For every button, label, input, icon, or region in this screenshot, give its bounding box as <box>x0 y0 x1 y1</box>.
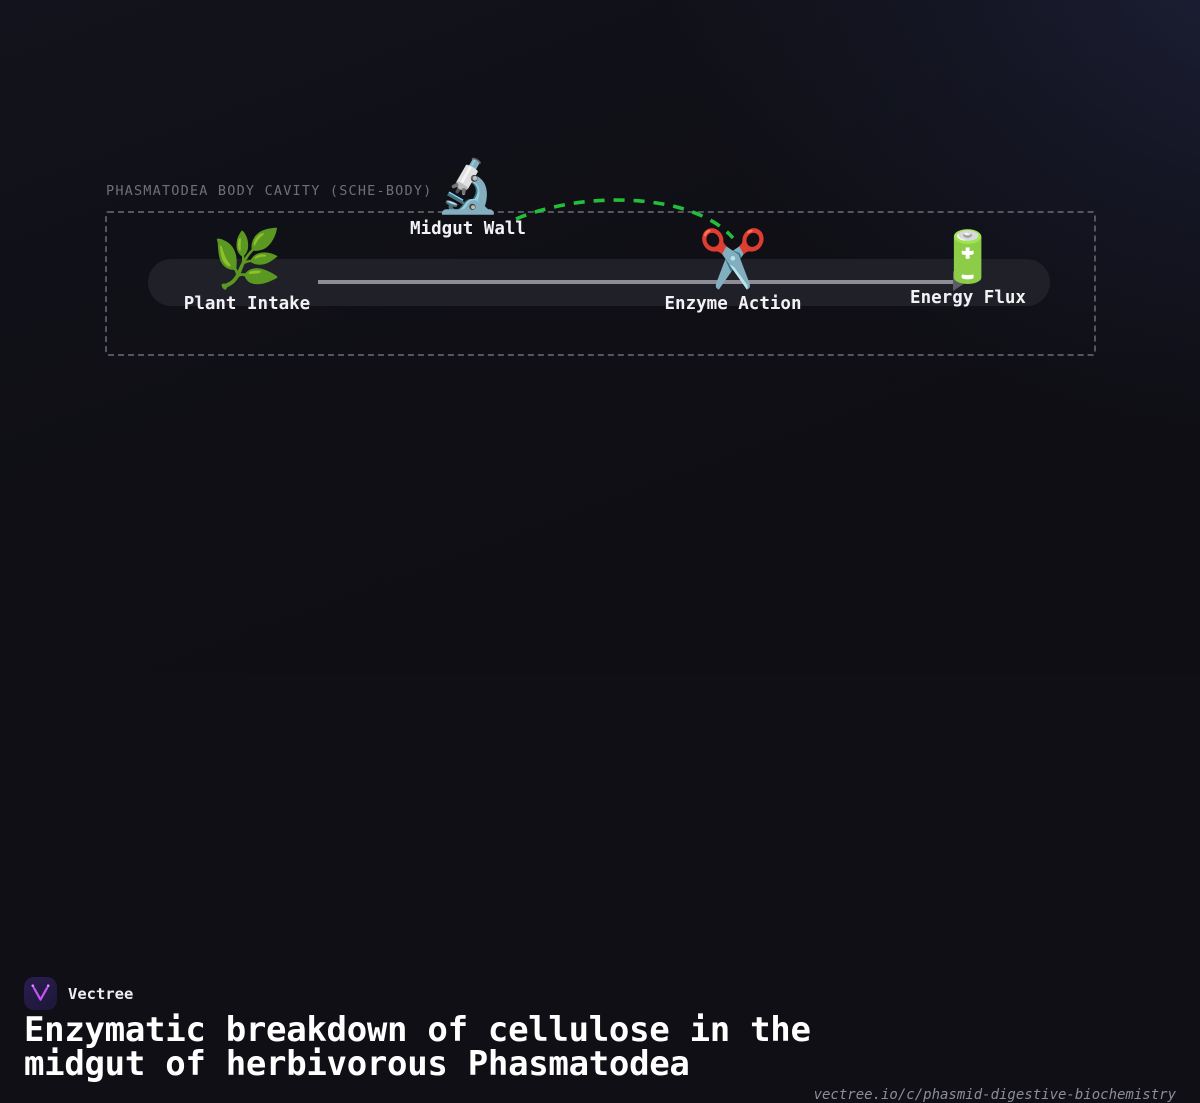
headline: Enzymatic breakdown of cellulose in the … <box>24 1013 824 1081</box>
node-label-midgut-wall: Midgut Wall <box>368 219 568 239</box>
brand-name: Vectree <box>68 985 133 1003</box>
microscope-icon: 🔬 <box>368 161 568 213</box>
source-url: vectree.io/c/phasmid-digestive-biochemis… <box>814 1087 1176 1103</box>
herb-icon: 🌿 <box>147 232 347 288</box>
scissors-icon: ✂️ <box>633 232 833 288</box>
diagram-node-enzyme-action[interactable]: ✂️ Enzyme Action <box>633 232 833 314</box>
vectree-logo-icon <box>24 977 57 1010</box>
battery-icon: 🔋 <box>868 232 1068 282</box>
diagram-node-energy-flux[interactable]: 🔋 Energy Flux <box>868 232 1068 308</box>
footer-region: Vectree Enzymatic breakdown of cellulose… <box>0 465 1200 675</box>
node-label-energy-flux: Energy Flux <box>868 288 1068 308</box>
brand[interactable]: Vectree <box>24 977 133 1010</box>
node-label-enzyme-action: Enzyme Action <box>633 294 833 314</box>
diagram-node-plant-intake[interactable]: 🌿 Plant Intake <box>147 232 347 314</box>
diagram-region: PHASMATODEA BODY CAVITY (SCHE-BODY) 🌿 Pl… <box>0 0 1200 420</box>
node-label-plant-intake: Plant Intake <box>147 294 347 314</box>
diagram-node-midgut-wall[interactable]: 🔬 Midgut Wall <box>368 161 568 239</box>
enzyme-action-path <box>0 0 1200 420</box>
stage: PHASMATODEA BODY CAVITY (SCHE-BODY) 🌿 Pl… <box>0 0 1200 675</box>
